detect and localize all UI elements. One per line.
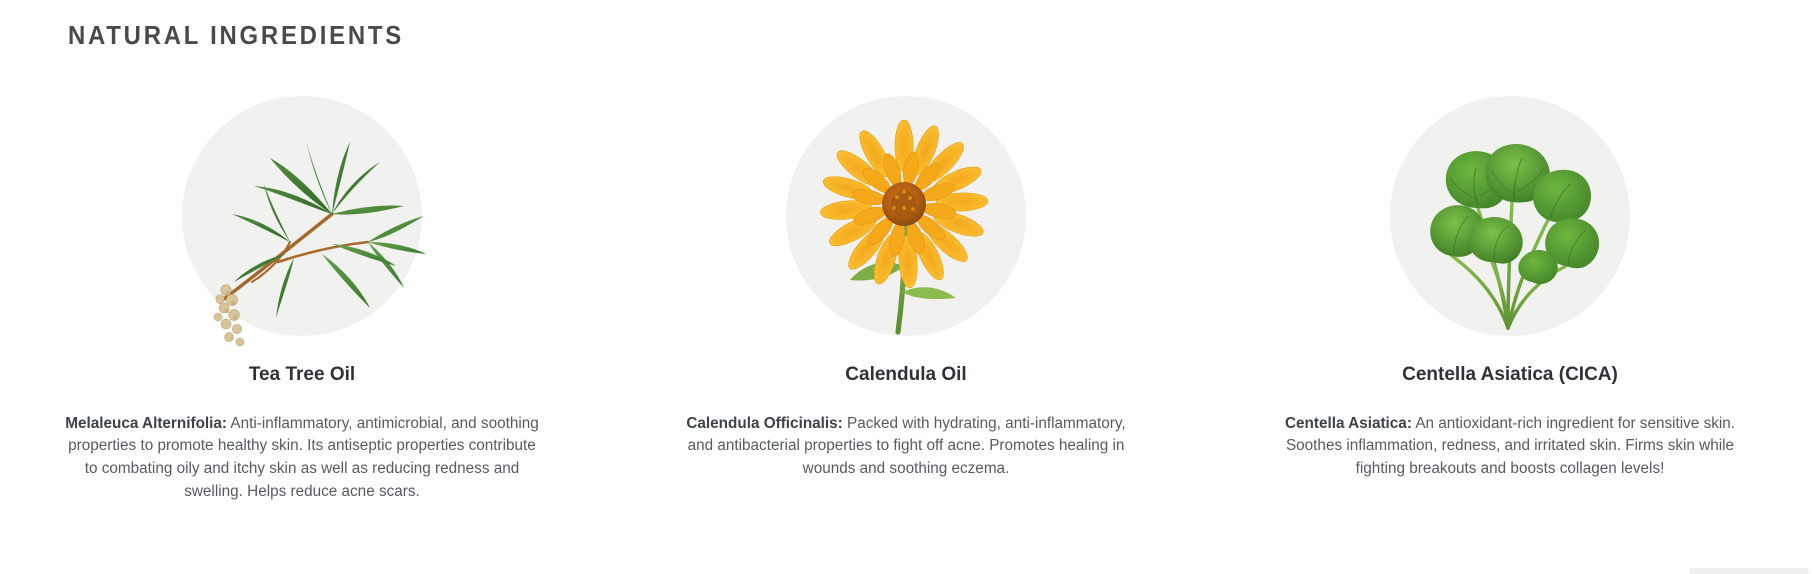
- centella-leaves-icon: [1390, 96, 1630, 336]
- ingredient-latin-name: Melaleuca Alternifolia:: [65, 415, 227, 432]
- centella-image-well: [1390, 96, 1630, 336]
- ingredient-description: Calendula Officinalis: Packed with hydra…: [682, 413, 1130, 481]
- calendula-flower-icon: [786, 96, 1026, 336]
- ingredient-title: Calendula Oil: [845, 364, 966, 387]
- ingredient-card-tea-tree-oil: Tea Tree Oil Melaleuca Alternifolia: Ant…: [0, 96, 604, 503]
- calendula-image-well: [786, 96, 1026, 336]
- ingredient-card-centella-asiatica: Centella Asiatica (CICA) Centella Asiati…: [1208, 96, 1812, 481]
- page-scrollbar[interactable]: [1689, 568, 1809, 574]
- tea-tree-sprig-icon: [182, 96, 422, 336]
- ingredient-card-list: Tea Tree Oil Melaleuca Alternifolia: Ant…: [0, 96, 1813, 503]
- ingredient-latin-name: Calendula Officinalis:: [686, 415, 842, 432]
- ingredient-card-calendula-oil: Calendula Oil Calendula Officinalis: Pac…: [604, 96, 1208, 481]
- page-title: NATURAL INGREDIENTS: [68, 20, 404, 51]
- ingredient-latin-name: Centella Asiatica:: [1285, 415, 1412, 432]
- tea-tree-image-well: [182, 96, 422, 336]
- ingredient-description: Centella Asiatica: An antioxidant-rich i…: [1275, 413, 1745, 481]
- ingredient-description: Melaleuca Alternifolia: Anti-inflammator…: [62, 413, 542, 504]
- natural-ingredients-section: NATURAL INGREDIENTS: [0, 0, 1813, 574]
- ingredient-title: Centella Asiatica (CICA): [1402, 364, 1618, 387]
- ingredient-title: Tea Tree Oil: [249, 364, 355, 387]
